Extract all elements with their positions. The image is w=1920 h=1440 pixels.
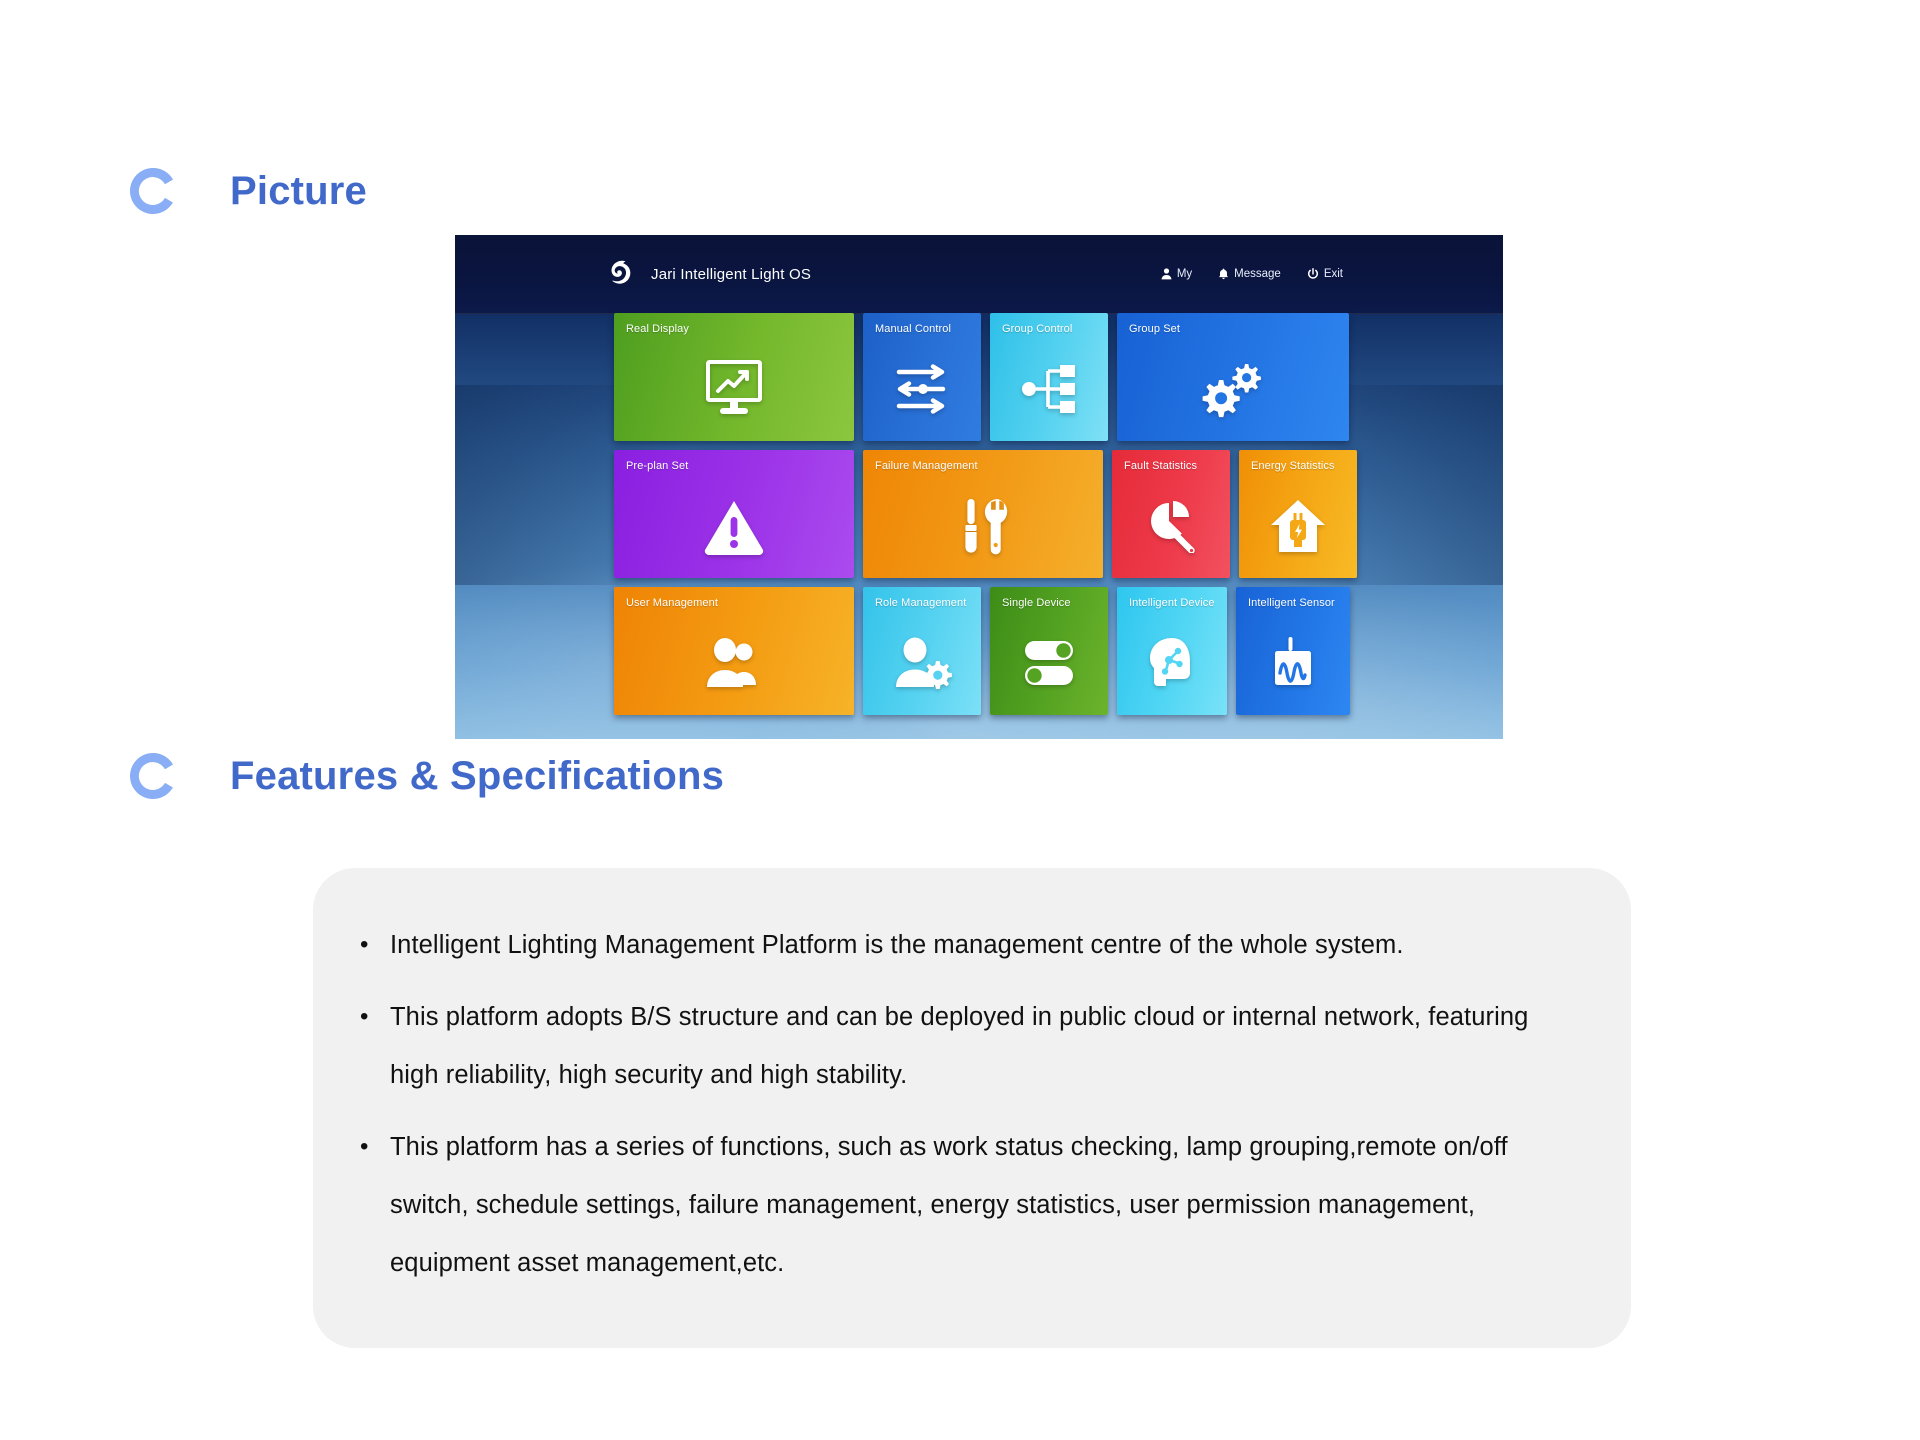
swirl-logo-icon bbox=[603, 257, 637, 291]
dashboard-screenshot: Jari Intelligent Light OS My Message Exi… bbox=[455, 235, 1503, 739]
tile-label: Single Device bbox=[1002, 597, 1071, 609]
dashboard-header: Jari Intelligent Light OS My Message Exi… bbox=[455, 235, 1503, 314]
toggles-icon bbox=[990, 617, 1108, 709]
dashboard-nav: My Message Exit bbox=[1161, 235, 1343, 313]
tile-label: Pre-plan Set bbox=[626, 460, 688, 472]
tile-label: Intelligent Sensor bbox=[1248, 597, 1335, 609]
tile-pre-plan-set[interactable]: Pre-plan Set bbox=[614, 450, 854, 578]
tile-intelligent-device[interactable]: Intelligent Device bbox=[1117, 587, 1227, 715]
tile-failure-management[interactable]: Failure Management bbox=[863, 450, 1103, 578]
bullet-marker: • bbox=[338, 1118, 390, 1292]
c-ring-icon bbox=[122, 160, 184, 222]
nav-item-exit[interactable]: Exit bbox=[1307, 268, 1343, 280]
users-icon bbox=[614, 617, 854, 709]
tile-manual-control[interactable]: Manual Control bbox=[863, 313, 981, 441]
tile-grid: Real Display Manual Control bbox=[455, 313, 1503, 724]
bullet-text: This platform adopts B/S structure and c… bbox=[390, 988, 1581, 1104]
list-item: • Intelligent Lighting Management Platfo… bbox=[338, 916, 1581, 974]
tile-fault-statistics[interactable]: Fault Statistics bbox=[1112, 450, 1230, 578]
tile-label: Manual Control bbox=[875, 323, 951, 335]
tile-single-device[interactable]: Single Device bbox=[990, 587, 1108, 715]
list-item: • This platform adopts B/S structure and… bbox=[338, 988, 1581, 1104]
brand: Jari Intelligent Light OS bbox=[603, 257, 811, 291]
c-ring-icon bbox=[122, 745, 184, 807]
features-card: • Intelligent Lighting Management Platfo… bbox=[313, 868, 1631, 1348]
nav-item-message[interactable]: Message bbox=[1218, 268, 1281, 280]
bullet-marker: • bbox=[338, 916, 390, 974]
tile-real-display[interactable]: Real Display bbox=[614, 313, 854, 441]
tile-label: Group Set bbox=[1129, 323, 1180, 335]
power-icon bbox=[1307, 268, 1319, 280]
head-network-icon bbox=[1117, 617, 1227, 709]
user-icon bbox=[1161, 268, 1172, 280]
house-plug-icon bbox=[1239, 480, 1357, 572]
tile-label: Energy Statistics bbox=[1251, 460, 1335, 472]
bell-icon bbox=[1218, 268, 1229, 280]
brand-name: Jari Intelligent Light OS bbox=[651, 266, 811, 283]
nav-label-exit: Exit bbox=[1324, 268, 1343, 280]
tile-label: Intelligent Device bbox=[1129, 597, 1215, 609]
tile-group-control[interactable]: Group Control bbox=[990, 313, 1108, 441]
bullet-marker: • bbox=[338, 988, 390, 1104]
tile-label: Fault Statistics bbox=[1124, 460, 1197, 472]
bullet-text: This platform has a series of functions,… bbox=[390, 1118, 1581, 1292]
bullet-text: Intelligent Lighting Management Platform… bbox=[390, 916, 1404, 974]
nav-label-my: My bbox=[1177, 268, 1192, 280]
tile-row: User Management Role Manag bbox=[614, 587, 1503, 715]
tile-row: Real Display Manual Control bbox=[614, 313, 1503, 441]
slide-root: Picture Jari Intelligent Light OS My bbox=[0, 0, 1920, 1440]
user-gear-icon bbox=[863, 617, 981, 709]
section-header-features: Features & Specifications bbox=[122, 745, 724, 807]
sensor-wave-icon bbox=[1236, 617, 1350, 709]
tile-label: Group Control bbox=[1002, 323, 1072, 335]
tile-label: Failure Management bbox=[875, 460, 978, 472]
bullet-list: • Intelligent Lighting Management Platfo… bbox=[338, 916, 1581, 1306]
tile-label: Real Display bbox=[626, 323, 689, 335]
sliders-icon bbox=[863, 343, 981, 435]
warning-triangle-icon bbox=[614, 480, 854, 572]
tile-user-management[interactable]: User Management bbox=[614, 587, 854, 715]
monitor-chart-icon bbox=[614, 343, 854, 435]
tile-role-management[interactable]: Role Management bbox=[863, 587, 981, 715]
tile-energy-statistics[interactable]: Energy Statistics bbox=[1239, 450, 1357, 578]
section-title-features: Features & Specifications bbox=[230, 754, 724, 799]
wrench-screwdriver-icon bbox=[863, 480, 1103, 572]
pie-magnifier-icon bbox=[1112, 480, 1230, 572]
tile-label: Role Management bbox=[875, 597, 966, 609]
section-title-picture: Picture bbox=[230, 169, 367, 214]
tile-group-set[interactable]: Group Set bbox=[1117, 313, 1349, 441]
tile-label: User Management bbox=[626, 597, 718, 609]
tile-intelligent-sensor[interactable]: Intelligent Sensor bbox=[1236, 587, 1350, 715]
nav-label-message: Message bbox=[1234, 268, 1281, 280]
sitemap-icon bbox=[990, 343, 1108, 435]
tile-row: Pre-plan Set Failure Management bbox=[614, 450, 1503, 578]
list-item: • This platform has a series of function… bbox=[338, 1118, 1581, 1292]
gears-icon bbox=[1117, 343, 1349, 435]
section-header-picture: Picture bbox=[122, 160, 367, 222]
nav-item-my[interactable]: My bbox=[1161, 268, 1192, 280]
